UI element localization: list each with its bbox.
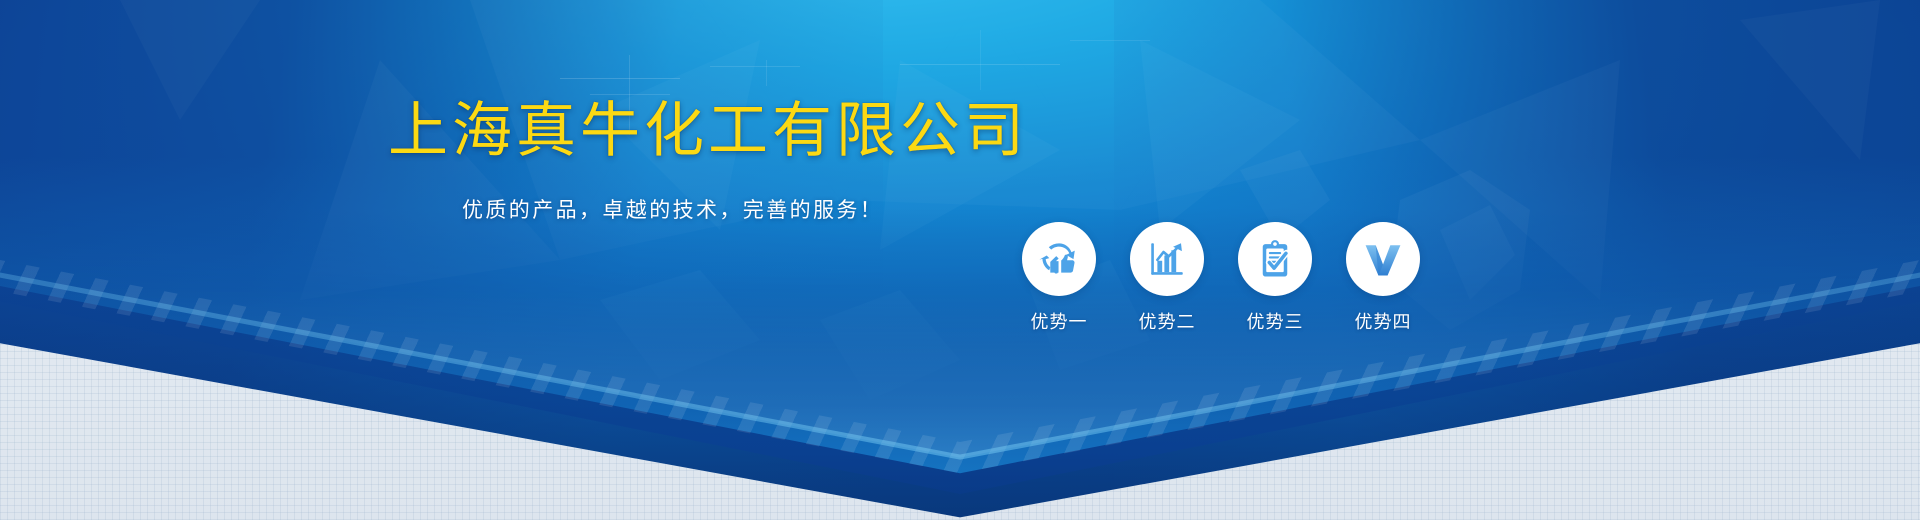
slogan-text: 优质的产品，卓越的技术，完善的服务！	[462, 195, 883, 227]
feature-label-3: 优势三	[1247, 308, 1304, 334]
page-title: 上海真牛化工有限公司	[388, 95, 1028, 167]
feature-label-4: 优势四	[1355, 308, 1412, 334]
feature-icon-circle-1[interactable]	[1022, 222, 1096, 296]
feature-item-3[interactable]: 优势三	[1238, 222, 1312, 334]
feature-icon-circle-4[interactable]	[1346, 222, 1420, 296]
feature-label-1: 优势一	[1031, 308, 1088, 334]
feature-list: 优势一	[1022, 222, 1420, 334]
feature-icon-circle-2[interactable]	[1130, 222, 1204, 296]
feature-item-4[interactable]: 优势四	[1346, 222, 1420, 334]
feature-item-1[interactable]: 优势一	[1022, 222, 1096, 334]
feature-icon-circle-3[interactable]	[1238, 222, 1312, 296]
bar-chart-growth-icon	[1146, 238, 1188, 280]
feature-item-2[interactable]: 优势二	[1130, 222, 1204, 334]
recycle-thumbsup-icon	[1037, 237, 1081, 281]
banner-content: 上海真牛化工有限公司 优质的产品，卓越的技术，完善的服务！	[0, 0, 1920, 520]
feature-label-2: 优势二	[1139, 308, 1196, 334]
clipboard-check-icon	[1254, 238, 1296, 280]
v-badge-icon	[1361, 237, 1405, 281]
company-hero-banner: 上海真牛化工有限公司 优质的产品，卓越的技术，完善的服务！	[0, 0, 1920, 520]
